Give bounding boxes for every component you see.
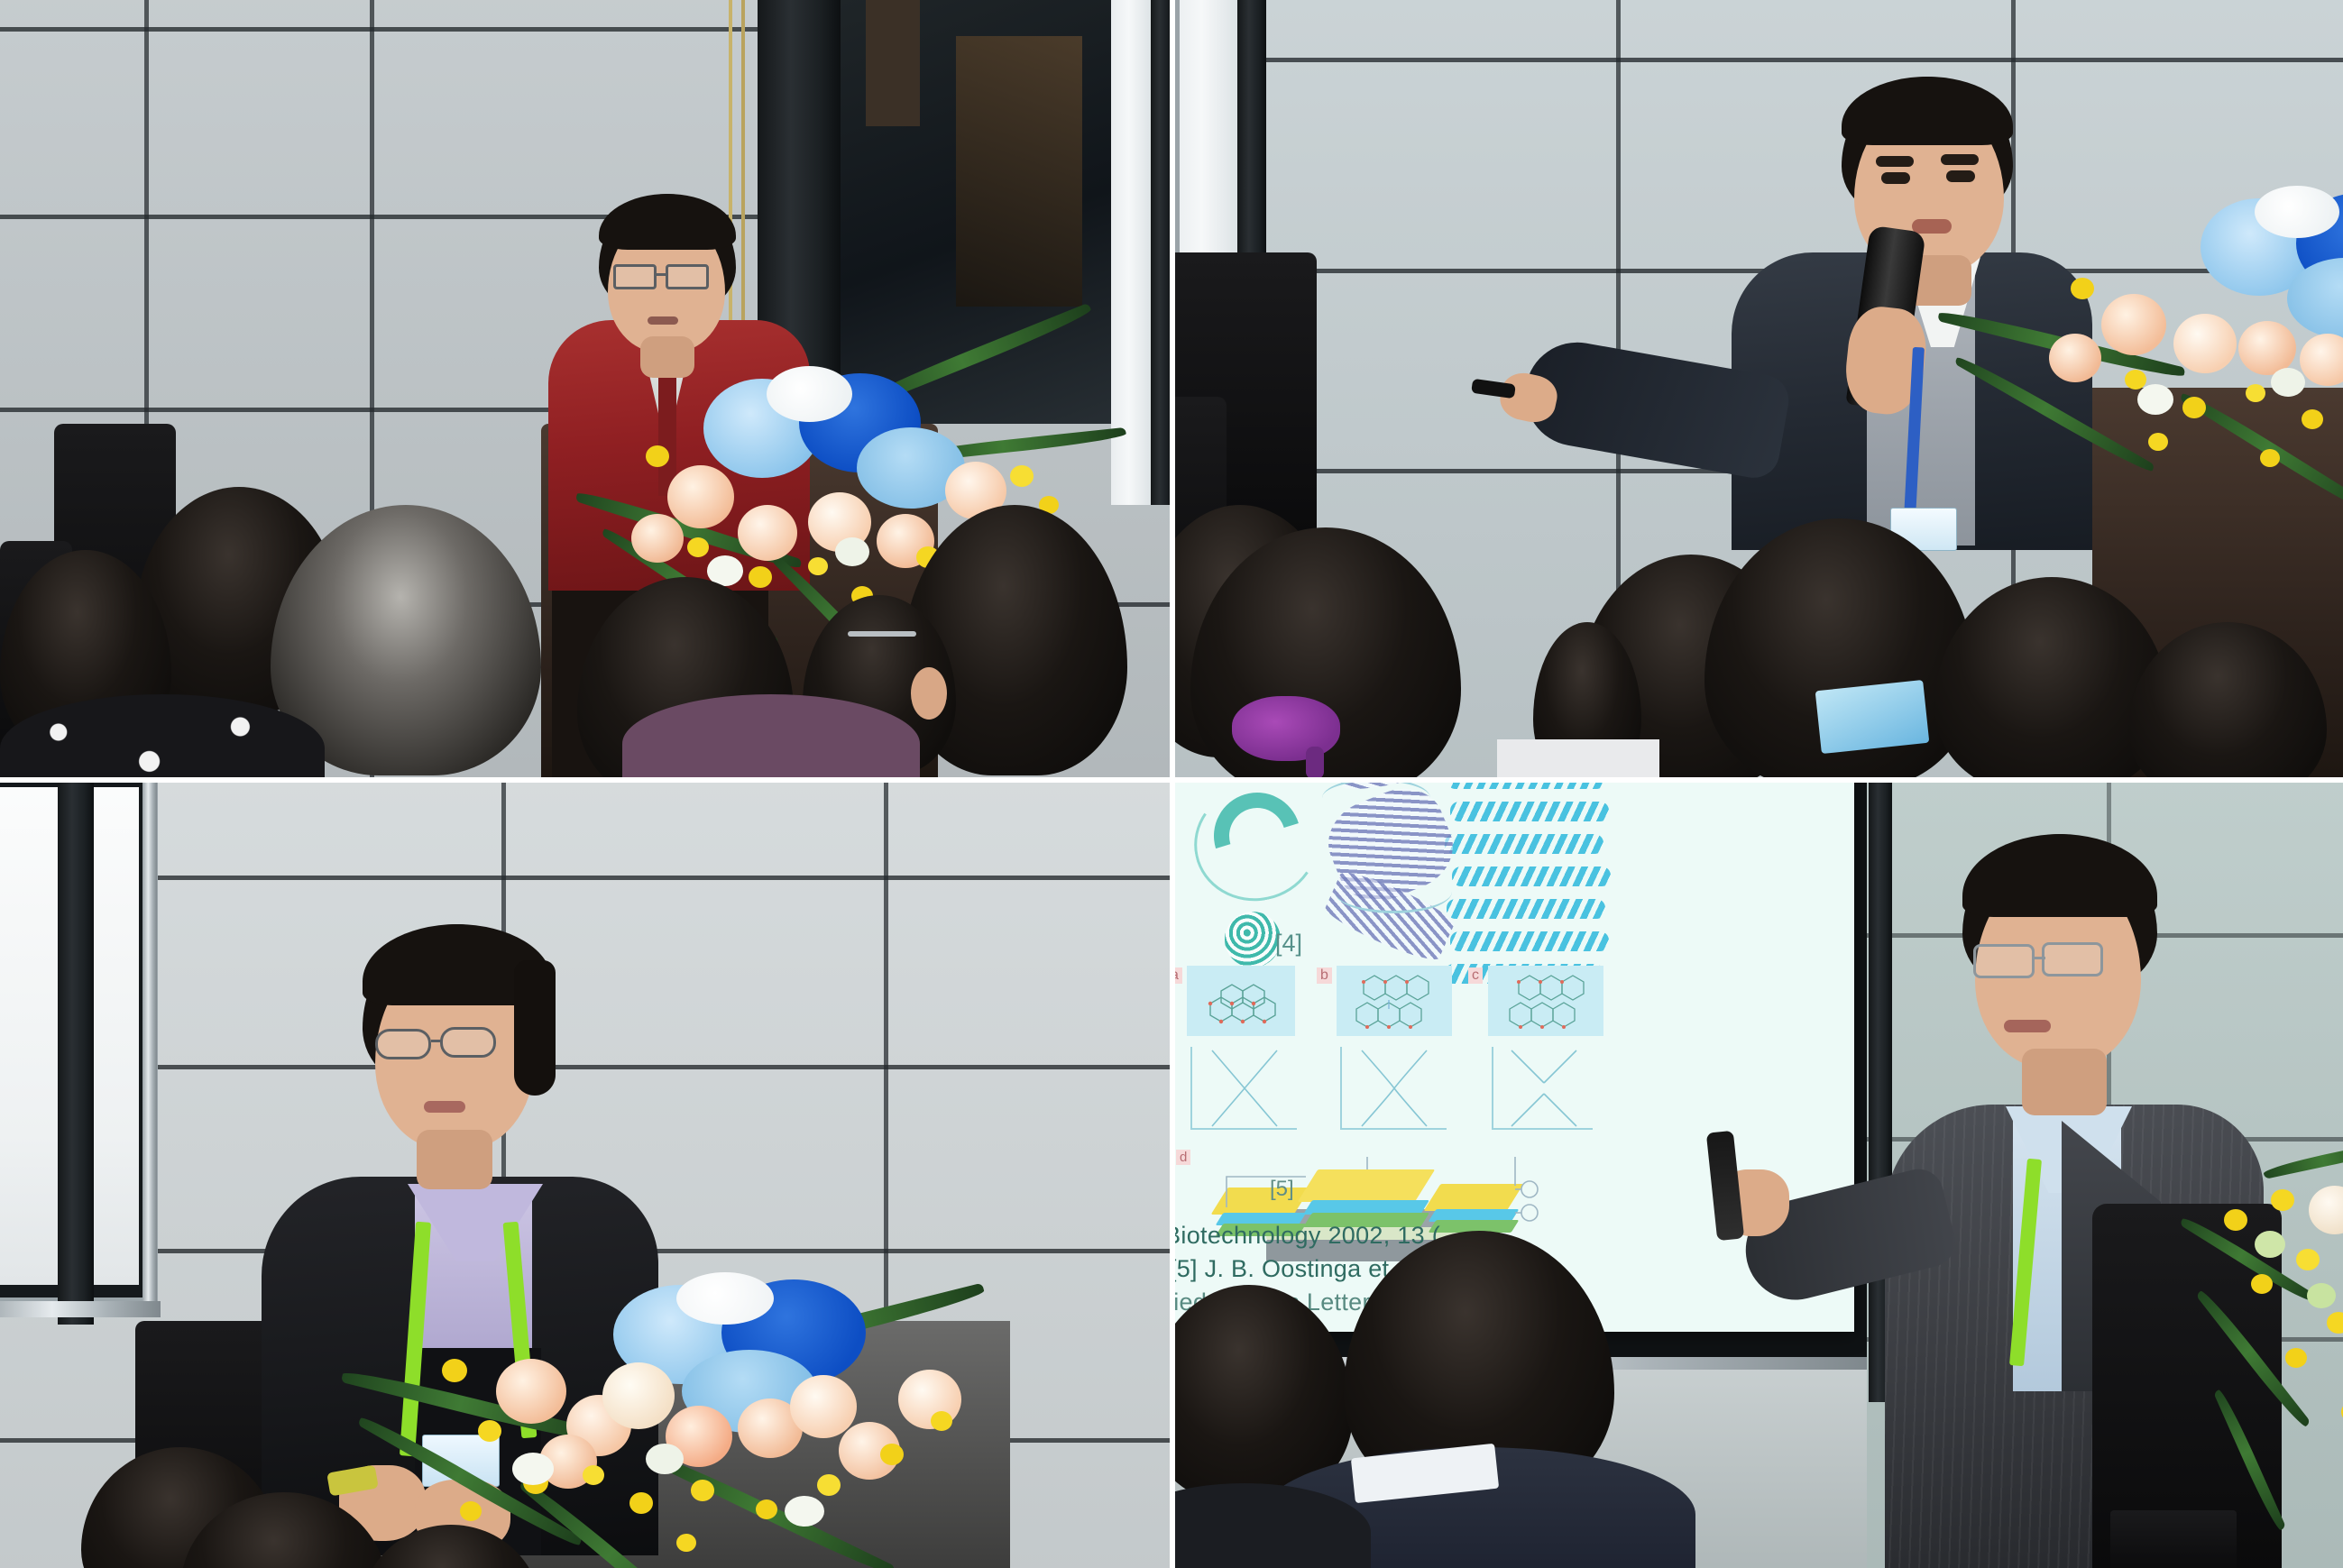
orchid-yellow <box>2296 1249 2320 1270</box>
neck <box>417 1130 492 1189</box>
curved-arrow <box>1335 870 1452 913</box>
orchid-yellow <box>442 1359 467 1382</box>
laptop-screen <box>1815 680 1930 754</box>
band-structure-plot-b <box>1340 1047 1447 1130</box>
orchid-yellow <box>2251 1274 2273 1294</box>
eyeglasses-left-lens <box>1973 944 2035 978</box>
curved-arrow <box>1183 780 1329 912</box>
eyeglasses-bridge <box>431 1040 442 1042</box>
orchid-yellow <box>2327 1312 2343 1334</box>
orchid-yellow <box>931 1411 952 1431</box>
rose-peach <box>738 505 797 561</box>
collage-panel-top-left <box>0 0 1172 780</box>
white-filler-flower <box>2271 368 2305 397</box>
green-bud <box>2255 1231 2285 1258</box>
mouth <box>648 316 678 325</box>
floral-arrangement <box>2038 207 2343 505</box>
purple-scrunchie <box>1232 696 1340 761</box>
orchid-yellow <box>1010 465 1034 487</box>
window-reflection <box>956 36 1082 307</box>
orchid-yellow <box>2302 409 2323 429</box>
orchid-yellow <box>676 1534 696 1552</box>
eyeglasses-left-lens <box>375 1029 431 1059</box>
floral-arrangement <box>379 1276 974 1568</box>
orchid-yellow <box>460 1501 482 1521</box>
rose-cream <box>2173 314 2237 373</box>
orchid-yellow <box>817 1474 841 1496</box>
photo-collage: [4] a <box>0 0 2343 1568</box>
eye-left <box>1881 172 1910 184</box>
graphene-lattice-svg <box>1187 966 1295 1036</box>
helix-row <box>1450 931 1609 951</box>
rose-peach <box>2101 294 2166 355</box>
eyeglasses-right-lens <box>440 1027 496 1058</box>
helix-row <box>1447 899 1605 919</box>
panel-tag-b: b <box>1317 967 1332 984</box>
green-bud <box>2307 1283 2336 1308</box>
orchid-yellow <box>2246 384 2265 402</box>
gapped-dirac-cone-svg <box>1493 1047 1594 1130</box>
eyeglasses-bridge <box>2033 957 2045 959</box>
lattice-card-b <box>1337 966 1452 1036</box>
white-filler-flower <box>785 1496 824 1527</box>
orchid-yellow <box>756 1499 777 1519</box>
rose-peach <box>631 514 684 563</box>
helix-row <box>1445 834 1603 854</box>
white-filler-flower <box>835 537 869 566</box>
white-filler-flower <box>646 1444 684 1474</box>
hair-top <box>599 194 736 250</box>
orchid-yellow <box>2224 1209 2247 1231</box>
scrunchie-tail <box>1306 747 1324 779</box>
helix-row <box>1450 802 1609 821</box>
lattice-card-a <box>1187 966 1295 1036</box>
eyeglasses-left-lens <box>613 264 657 289</box>
window-reflection <box>866 0 920 126</box>
neck <box>2022 1049 2107 1115</box>
rose-peach <box>2049 334 2101 382</box>
bilayer-lattice-svg <box>1488 966 1603 1036</box>
collage-panel-bottom-left <box>0 780 1172 1568</box>
rose-cream <box>602 1362 675 1429</box>
orchid-yellow <box>2271 1189 2294 1211</box>
dirac-cone-svg <box>1192 1047 1299 1130</box>
orchid-yellow <box>2285 1348 2307 1368</box>
collage-panel-bottom-right: [4] a <box>1172 780 2343 1568</box>
eye-right <box>1946 170 1975 182</box>
orchid-yellow <box>2071 278 2094 299</box>
hair-top <box>1842 77 2013 145</box>
screen-metal-trim <box>142 780 157 1316</box>
mouth <box>1912 219 1952 234</box>
collage-divider-vertical <box>1170 0 1175 1568</box>
rose-cream <box>790 1375 857 1438</box>
hair-top <box>1962 834 2157 917</box>
orchid-yellow <box>583 1465 604 1485</box>
helix-row <box>1452 867 1611 886</box>
white-filler-flower <box>2137 384 2173 415</box>
paper-document <box>1497 739 1659 780</box>
bilayer-lattice-svg <box>1337 966 1452 1036</box>
hair-ponytail <box>514 960 556 1096</box>
figure-label-4: [4] <box>1275 930 1302 958</box>
dirac-cone-svg <box>1342 1047 1448 1130</box>
fullerene-ball <box>1225 912 1281 967</box>
orchid-yellow <box>687 537 709 557</box>
white-flowers <box>2255 186 2339 238</box>
grout-line <box>0 876 1172 880</box>
eyeglasses-temple <box>848 631 916 637</box>
floral-arrangement <box>2164 1177 2343 1537</box>
orchid-yellow <box>749 566 772 588</box>
band-structure-plot-a <box>1190 1047 1297 1130</box>
reference-line-1: n Biotechnology 2002, 13 ( <box>1172 1222 1440 1250</box>
orchid-yellow <box>2148 433 2168 451</box>
mouth <box>2004 1020 2051 1032</box>
screen-frame <box>58 780 94 1325</box>
mouth <box>424 1101 465 1113</box>
white-filler-flower <box>512 1453 554 1485</box>
orchid-yellow <box>629 1492 653 1514</box>
eyeglasses-right-lens <box>666 264 709 289</box>
collage-panel-top-right <box>1172 0 2343 780</box>
eyeglasses-bridge <box>657 273 667 276</box>
orchid-yellow <box>478 1420 501 1442</box>
orchid-yellow <box>646 445 669 467</box>
orchid-yellow <box>808 557 828 575</box>
rose-peach <box>496 1359 566 1424</box>
panel-tag-c: c <box>1468 967 1483 984</box>
orchid-yellow <box>880 1444 904 1465</box>
orchid-yellow <box>691 1480 714 1501</box>
lattice-card-c <box>1488 966 1603 1036</box>
rose-peach <box>667 465 734 528</box>
white-flowers <box>676 1272 774 1325</box>
rose-cream <box>2309 1186 2343 1234</box>
orchid-yellow <box>2260 449 2280 467</box>
eyebrow-right <box>1941 154 1979 165</box>
orchid-yellow <box>2125 370 2146 390</box>
screen-metal-trim-bottom <box>0 1301 161 1317</box>
grout-line <box>1172 58 2343 62</box>
orchid-yellow <box>2182 397 2206 418</box>
rose-peach <box>2238 321 2296 375</box>
palm-frond <box>2213 1388 2286 1533</box>
figure-label-5: [5] <box>1270 1177 1294 1202</box>
curved-arrow <box>1322 780 1430 818</box>
neck <box>640 336 694 378</box>
band-structure-plot-c <box>1492 1047 1593 1130</box>
rose-peach <box>2300 334 2343 386</box>
white-flowers <box>767 366 852 422</box>
device-panel-tag: d <box>1176 1150 1190 1165</box>
audience-ear <box>911 667 947 720</box>
eyebrow-left <box>1876 156 1914 167</box>
eyeglasses-right-lens <box>2042 942 2103 977</box>
